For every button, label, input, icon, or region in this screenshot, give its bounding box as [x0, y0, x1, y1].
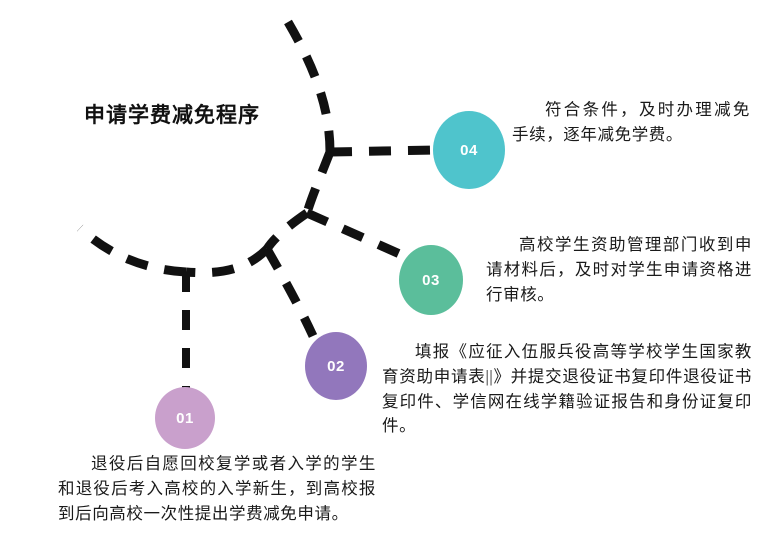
step-node-04[interactable]: 04 [433, 111, 505, 189]
step-description-02: 填报《应征入伍服兵役高等学校学生国家教育资助申请表||》并提交退役证书复印件退役… [382, 340, 752, 439]
connector-to-node-04 [330, 150, 437, 152]
connector-trunk-middle [307, 152, 330, 213]
page-title: 申请学费减免程序 [84, 99, 260, 129]
connector-arc-left-segment [80, 228, 186, 272]
step-node-01[interactable]: 01 [155, 387, 215, 449]
step-node-04-number: 04 [460, 142, 478, 159]
step-description-01: 退役后自愿回校复学或者入学的学生和退役后考入高校的入学新生，到高校报到后向高校一… [58, 452, 376, 526]
step-description-04: 符合条件，及时办理减免手续，逐年减免学费。 [512, 98, 750, 148]
step-node-02-number: 02 [327, 358, 345, 375]
step-node-02[interactable]: 02 [305, 332, 367, 400]
step-node-01-number: 01 [176, 410, 194, 427]
step-description-03: 高校学生资助管理部门收到申请材料后，及时对学生申请资格进行审核。 [486, 233, 752, 307]
step-node-03-number: 03 [422, 272, 440, 289]
connector-to-node-03 [307, 213, 404, 256]
step-node-03[interactable]: 03 [399, 245, 463, 315]
connector-trunk-lower [267, 213, 307, 249]
connector-trunk-top [288, 22, 330, 152]
infographic-canvas: 申请学费减免程序 04 03 02 01 符合条件，及时办理减免手续，逐年减免学… [0, 0, 760, 546]
connector-arc-right-segment [186, 249, 267, 273]
connector-to-node-02 [267, 249, 313, 336]
